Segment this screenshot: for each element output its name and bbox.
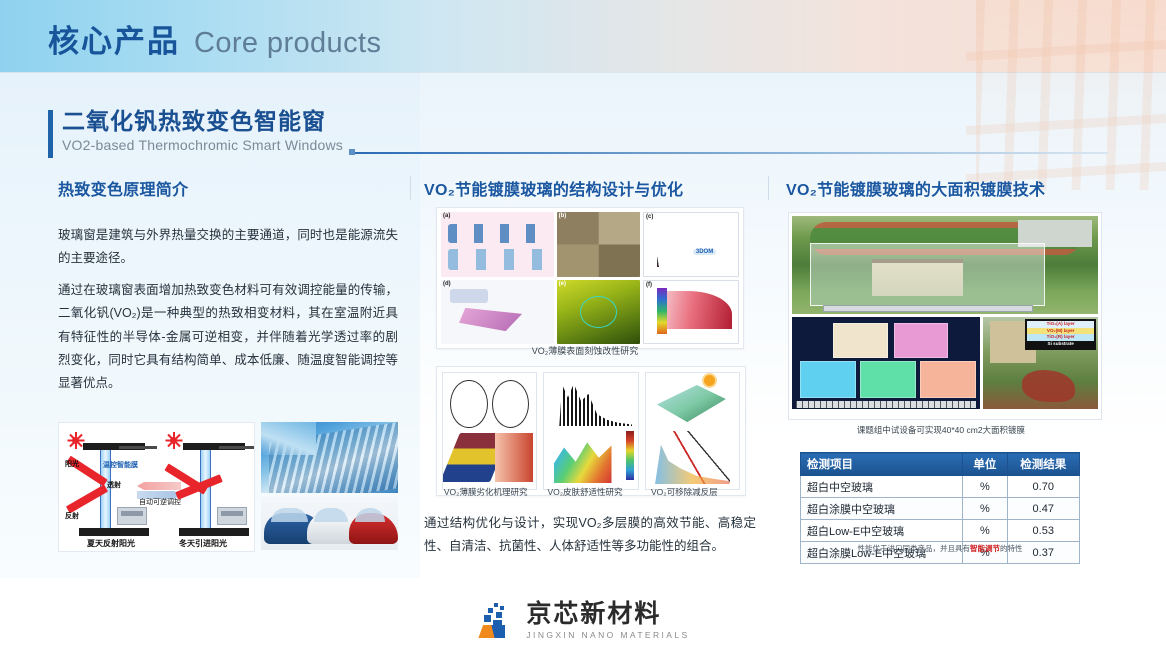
- logo-mark-icon: [476, 603, 516, 639]
- th-item: 检测项目: [801, 453, 963, 476]
- sun-icon-summer: [67, 432, 84, 449]
- table-header-row: 检测项目 单位 检测结果: [801, 453, 1080, 476]
- figure-panel-etching: (a) (b) (c)3DOM (d) (e) (f): [436, 207, 744, 349]
- zoom-annotation: 3DOM: [693, 249, 716, 255]
- footnote-highlight: 智能调节: [970, 544, 1000, 553]
- photo-cars: [261, 497, 398, 550]
- layer-label-vo2m: VO₂(M) layer: [1027, 328, 1094, 335]
- cell-item: 超白Low-E中空玻璃: [801, 520, 963, 542]
- building-watermark: [976, 0, 1166, 190]
- layer-stack-diagram: TiO₂(A) layer VO₂(M) layer TiO₂(R) layer…: [1025, 319, 1096, 350]
- column-heading-structure: VO₂节能镀膜玻璃的结构设计与优化: [424, 176, 754, 200]
- subfigure-a: (a): [441, 212, 554, 277]
- cell-result: 0.47: [1007, 498, 1079, 520]
- label-transmit: 透射: [107, 480, 121, 490]
- figure-skin-comfort: [543, 372, 638, 490]
- layer-label-si-substrate: Si substrate: [1027, 341, 1094, 348]
- principle-paragraph-1: 玻璃窗是建筑与外界热量交换的主要通道，同时也是能源流失的主要途径。: [58, 224, 398, 270]
- photo-large-pane: [792, 216, 1098, 314]
- page-title-en: Core products: [194, 27, 381, 60]
- figure-degradation: [442, 372, 537, 490]
- coating-photo-group: TiO₂(A) layer VO₂(M) layer TiO₂(R) layer…: [788, 212, 1102, 420]
- principle-paragraph-2: 通过在玻璃窗表面增加热致变色材料可有效调控能量的传输，二氧化钒(VO₂)是一种典…: [58, 279, 398, 395]
- subfigure-f: (f): [643, 280, 739, 345]
- page-title: 核心产品 Core products: [48, 16, 381, 61]
- photo-glass-building: [261, 422, 398, 493]
- header-divider: [0, 72, 1166, 73]
- cell-unit: %: [963, 520, 1007, 542]
- caption-etching: VO₂薄膜表面刻蚀改性研究: [436, 344, 734, 357]
- th-result: 检测结果: [1007, 453, 1079, 476]
- table-footnote: 性能优于进口同类产品，并且具有智能调节的特性: [800, 543, 1080, 554]
- label-sunlight: 阳光: [65, 459, 79, 469]
- subfigure-c: (c)3DOM: [643, 212, 739, 277]
- subfigure-b: (b): [557, 212, 640, 277]
- label-reflect: 反射: [65, 511, 79, 521]
- cell-result: 0.53: [1007, 520, 1079, 542]
- subfigure-d: (d): [441, 280, 554, 345]
- caption-row-multifunction: VO₂薄膜劣化机理研究 VO₂皮肤舒适性研究 VO₂可移除减反层: [436, 486, 734, 498]
- caption-summer: 夏天反射阳光: [87, 538, 135, 549]
- th-unit: 单位: [963, 453, 1007, 476]
- cell-result: 0.70: [1007, 476, 1079, 498]
- table-row: 超白涂膜中空玻璃 % 0.47: [801, 498, 1080, 520]
- thermochromic-figure-group: 阳光 温控智能膜 透射 反射 自动可逆调控 夏天反射阳光 冬天引进阳光: [58, 422, 398, 550]
- logo-name-en: JINGXIN NANO MATERIALS: [526, 630, 689, 640]
- subfigure-e: (e): [557, 280, 640, 345]
- figure-antireflection: [645, 372, 740, 490]
- company-logo: 京芯新材料 JINGXIN NANO MATERIALS: [0, 602, 1166, 640]
- caption-winter: 冬天引进阳光: [179, 538, 227, 549]
- sun-icon-winter: [165, 432, 182, 449]
- footnote-suffix: 的特性: [1000, 544, 1023, 553]
- column-structure-design: VO₂节能镀膜玻璃的结构设计与优化: [424, 176, 754, 200]
- column-heading-coating: VO₂节能镀膜玻璃的大面积镀膜技术: [786, 176, 1096, 200]
- caption-skin-comfort: VO₂皮肤舒适性研究: [535, 486, 634, 498]
- page-title-cn: 核心产品: [48, 16, 180, 61]
- column-divider-1: [410, 176, 411, 200]
- structure-design-note: 通过结构优化与设计，实现VO₂多层膜的高效节能、高稳定性、自清洁、抗菌性、人体舒…: [424, 512, 756, 558]
- section-title: 二氧化钒热致变色智能窗 VO2-based Thermochromic Smar…: [48, 108, 343, 153]
- caption-degradation: VO₂薄膜劣化机理研究: [436, 486, 535, 498]
- layer-label-tio2a: TiO₂(A) layer: [1027, 321, 1094, 328]
- column-divider-2: [768, 176, 769, 200]
- layer-label-tio2r: TiO₂(R) layer: [1027, 334, 1094, 341]
- photo-color-swatches: [792, 317, 980, 409]
- section-title-en: VO2-based Thermochromic Smart Windows: [62, 137, 343, 153]
- photo-coated-glass-scene: TiO₂(A) layer VO₂(M) layer TiO₂(R) layer…: [983, 317, 1098, 409]
- cell-unit: %: [963, 498, 1007, 520]
- figure-panel-multifunction: [436, 366, 746, 496]
- label-reversible: 自动可逆调控: [139, 497, 181, 507]
- section-accent-bar: [48, 110, 53, 158]
- slide-root: 核心产品 Core products 二氧化钒热致变色智能窗 VO2-based…: [0, 0, 1166, 658]
- cell-item: 超白中空玻璃: [801, 476, 963, 498]
- column-principle: 热致变色原理简介 玻璃窗是建筑与外界热量交换的主要通道，同时也是能源流失的主要途…: [58, 176, 398, 404]
- column-large-area-coating: VO₂节能镀膜玻璃的大面积镀膜技术: [786, 176, 1096, 200]
- logo-name-cn: 京芯新材料: [526, 602, 689, 627]
- ruler-scale: [796, 401, 977, 408]
- table-row: 超白Low-E中空玻璃 % 0.53: [801, 520, 1080, 542]
- application-photos: [261, 422, 398, 550]
- section-title-cn: 二氧化钒热致变色智能窗: [62, 108, 343, 134]
- footnote-prefix: 性能优于进口同类产品，并且具有: [858, 544, 971, 553]
- label-smart-film: 温控智能膜: [103, 460, 138, 470]
- logo-text: 京芯新材料 JINGXIN NANO MATERIALS: [526, 602, 689, 640]
- caption-antireflection: VO₂可移除减反层: [635, 486, 734, 498]
- section-rule: [355, 152, 1108, 154]
- caption-coating-equipment: 课题组中试设备可实现40*40 cm2大面积镀膜: [788, 424, 1094, 436]
- column-heading-principle: 热致变色原理简介: [58, 176, 398, 200]
- cell-unit: %: [963, 476, 1007, 498]
- cell-item: 超白涂膜中空玻璃: [801, 498, 963, 520]
- table-row: 超白中空玻璃 % 0.70: [801, 476, 1080, 498]
- thermochromic-schematic: 阳光 温控智能膜 透射 反射 自动可逆调控 夏天反射阳光 冬天引进阳光: [58, 422, 255, 552]
